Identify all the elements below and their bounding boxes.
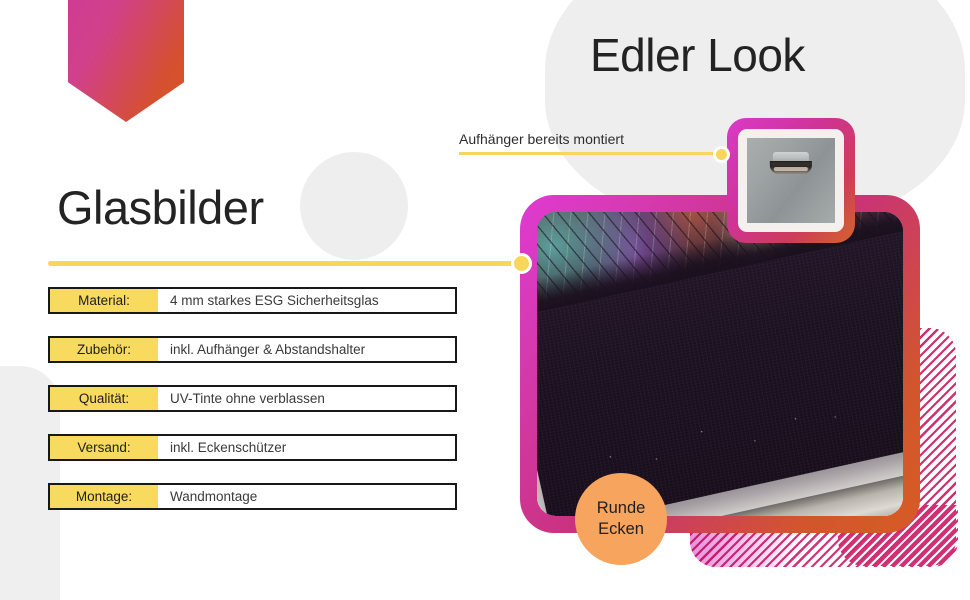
spec-value-zubehoer: inkl. Aufhänger & Abstandshalter	[158, 338, 455, 361]
glass-print-corner-photo	[537, 212, 903, 516]
spec-value-montage: Wandmontage	[158, 485, 455, 508]
background-circle-behind-title	[300, 152, 408, 260]
rounded-corners-badge-line2: Ecken	[598, 519, 644, 540]
spec-key-material: Material:	[50, 289, 158, 312]
title-connector-line	[48, 261, 518, 266]
hanger-annotation-line	[459, 152, 721, 155]
table-row: Material: 4 mm starkes ESG Sicherheitsgl…	[48, 287, 457, 314]
spec-key-qualitaet: Qualität:	[50, 387, 158, 410]
spec-value-qualitaet: UV-Tinte ohne verblassen	[158, 387, 455, 410]
page-title: Glasbilder	[57, 180, 264, 235]
wall-hanger-plate-icon	[747, 138, 835, 223]
product-image-inner	[537, 212, 903, 516]
infographic-canvas: Edler Look Glasbilder Material: 4 mm sta…	[0, 0, 970, 600]
product-image-frame	[520, 195, 920, 533]
spec-key-montage: Montage:	[50, 485, 158, 508]
table-row: Qualität: UV-Tinte ohne verblassen	[48, 385, 457, 412]
hanger-annotation-dot-icon	[713, 146, 730, 163]
hanger-bracket-icon	[770, 152, 812, 174]
table-row: Montage: Wandmontage	[48, 483, 457, 510]
spec-key-versand: Versand:	[50, 436, 158, 459]
rounded-corners-badge: Runde Ecken	[575, 473, 667, 565]
spec-value-material: 4 mm starkes ESG Sicherheitsglas	[158, 289, 455, 312]
shield-badge-icon	[68, 0, 184, 122]
specification-table: Material: 4 mm starkes ESG Sicherheitsgl…	[48, 287, 457, 510]
hanger-annotation-label: Aufhänger bereits montiert	[459, 131, 624, 147]
tagline-heading: Edler Look	[590, 28, 805, 82]
spec-value-versand: inkl. Eckenschützer	[158, 436, 455, 459]
title-connector-dot-icon	[511, 253, 532, 274]
rounded-corners-badge-line1: Runde	[597, 498, 646, 519]
hanger-detail-card	[727, 118, 855, 243]
spec-key-zubehoer: Zubehör:	[50, 338, 158, 361]
table-row: Zubehör: inkl. Aufhänger & Abstandshalte…	[48, 336, 457, 363]
table-row: Versand: inkl. Eckenschützer	[48, 434, 457, 461]
